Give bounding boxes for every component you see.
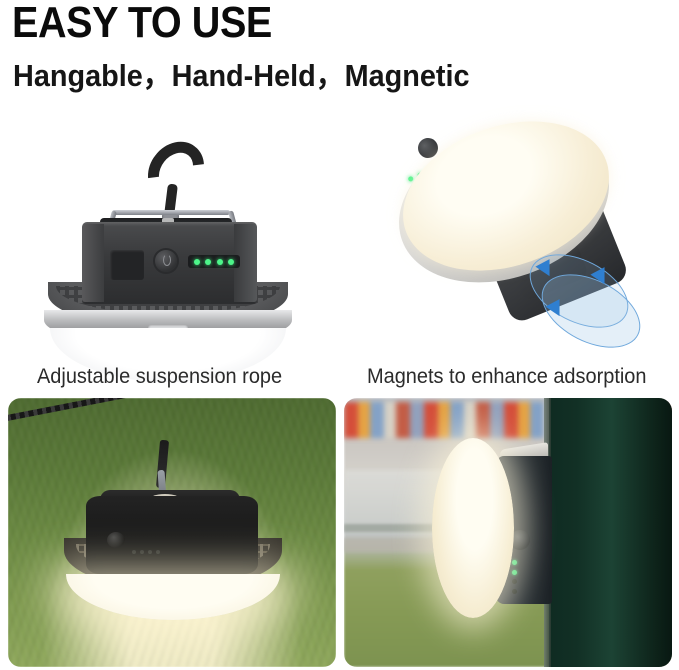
photo-magnet-pole — [344, 398, 672, 667]
battery-led — [156, 550, 160, 554]
caption-magnets-to-enhance-adsorption: Magnets to enhance adsorption — [367, 364, 647, 390]
page-subtitle: Hangable，Hand-Held，Magnetic — [13, 57, 470, 95]
battery-led — [512, 560, 517, 565]
photo-hanging-outdoor — [8, 398, 336, 667]
battery-indicator — [128, 548, 164, 556]
bail-top-bar — [112, 210, 230, 215]
product-image-magnetic-lantern — [378, 112, 668, 362]
power-button-icon — [107, 532, 125, 548]
battery-led — [512, 589, 517, 594]
battery-led — [228, 259, 234, 265]
battery-led — [512, 570, 517, 575]
product-image-hanging-lantern — [22, 132, 312, 357]
battery-led — [194, 259, 200, 265]
lamp-body-left-face — [82, 224, 104, 302]
battery-led — [205, 259, 211, 265]
battery-led — [148, 550, 152, 554]
green-pole — [549, 398, 672, 667]
battery-indicator — [188, 255, 240, 268]
battery-indicator — [510, 556, 519, 598]
page-title: EASY TO USE — [12, 0, 272, 48]
lamp-diffuser-dome-glowing — [432, 438, 514, 618]
battery-led — [217, 259, 223, 265]
battery-led — [140, 550, 144, 554]
caption-adjustable-suspension-rope: Adjustable suspension rope — [37, 364, 282, 390]
battery-led — [132, 550, 136, 554]
battery-led — [512, 579, 517, 584]
infographic-root: EASY TO USE Hangable，Hand-Held，Magnetic — [0, 0, 679, 670]
charging-port-cover — [110, 250, 144, 280]
power-button-icon — [155, 250, 177, 272]
